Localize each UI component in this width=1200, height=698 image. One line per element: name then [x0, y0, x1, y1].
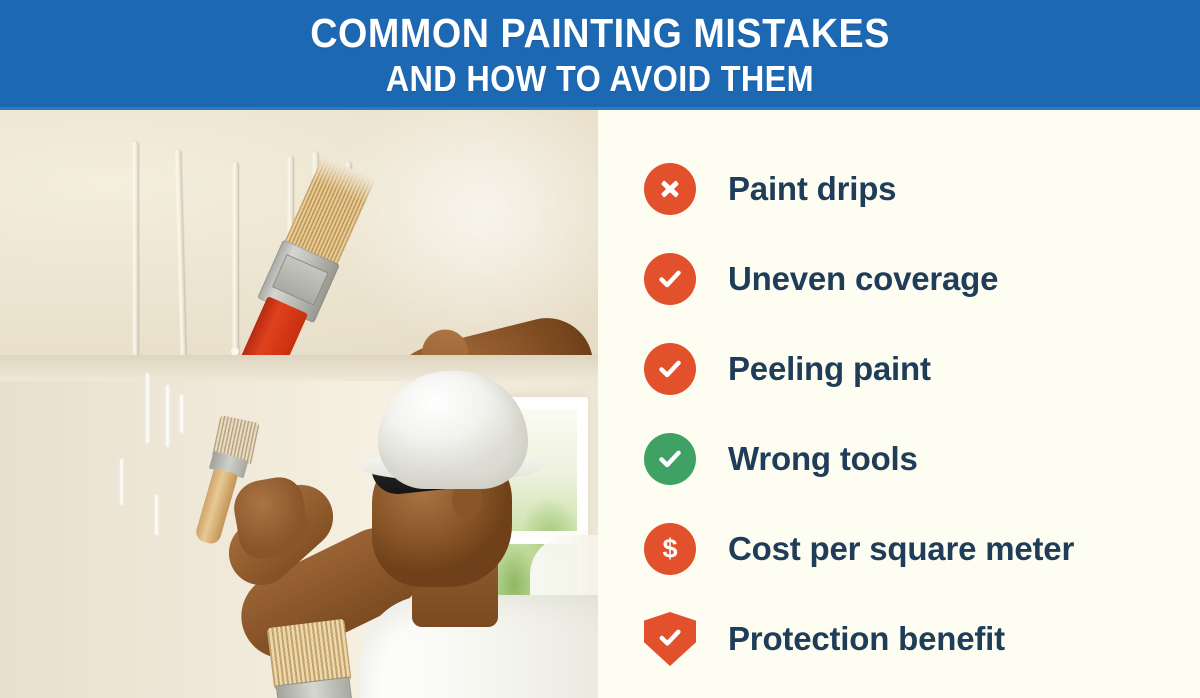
- paint-drip: [132, 142, 138, 355]
- svg-text:$: $: [662, 534, 677, 564]
- wall-drip: [155, 495, 158, 535]
- list-item-label: Cost per square meter: [728, 530, 1074, 568]
- dollar-circle-icon: $: [642, 521, 698, 577]
- list-item[interactable]: Peeling paint: [598, 324, 1200, 414]
- page-title-line-2: AND HOW TO AVOID THEM: [386, 61, 814, 97]
- list-item-label: Protection benefit: [728, 620, 1005, 658]
- list-item[interactable]: Protection benefit: [598, 594, 1200, 684]
- x-circle-icon: [642, 161, 698, 217]
- header-banner: COMMON PAINTING MISTAKES AND HOW TO AVOI…: [0, 0, 1200, 110]
- list-item[interactable]: Paint drips: [598, 144, 1200, 234]
- list-item-label: Paint drips: [728, 170, 896, 208]
- paint-drip: [232, 162, 238, 352]
- page-title-line-1: COMMON PAINTING MISTAKES: [310, 13, 890, 54]
- wall-drip: [120, 459, 123, 505]
- list-item-label: Peeling paint: [728, 350, 931, 388]
- list-item[interactable]: Wrong tools: [598, 414, 1200, 504]
- list-item-label: Wrong tools: [728, 440, 918, 478]
- painter-at-work-photo: [0, 355, 598, 698]
- check-circle-icon: [642, 251, 698, 307]
- paint-drips-photo: [0, 110, 598, 355]
- foreground-paint-brush: [267, 618, 358, 698]
- ceiling: [0, 355, 598, 381]
- shield-check-icon: [642, 611, 698, 667]
- infographic-canvas: COMMON PAINTING MISTAKES AND HOW TO AVOI…: [0, 0, 1200, 698]
- list-item[interactable]: Uneven coverage: [598, 234, 1200, 324]
- mistakes-list: Paint drips Uneven coverage Peel: [598, 110, 1200, 698]
- check-circle-icon: [642, 431, 698, 487]
- list-item-label: Uneven coverage: [728, 260, 998, 298]
- list-item[interactable]: $ Cost per square meter: [598, 504, 1200, 594]
- photo-column: [0, 110, 598, 698]
- wall-drip: [146, 373, 149, 443]
- check-circle-icon: [642, 341, 698, 397]
- wall-drip: [166, 385, 169, 447]
- wall-drip: [180, 395, 183, 433]
